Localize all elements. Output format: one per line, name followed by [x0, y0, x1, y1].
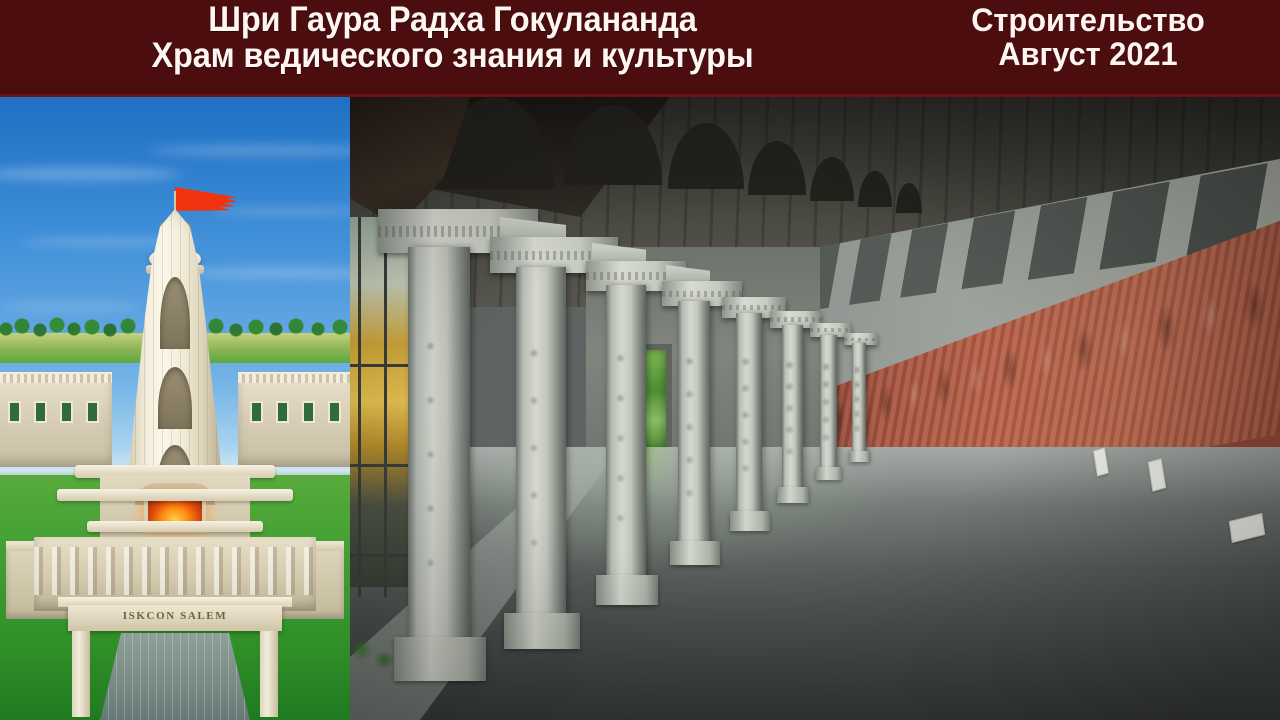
window — [60, 401, 73, 423]
parapet — [0, 374, 112, 383]
date-line-1: Строительство — [925, 4, 1251, 38]
corridor-pillar — [516, 267, 566, 643]
window — [302, 401, 315, 423]
corridor-pillar — [782, 325, 803, 497]
gate-pillar-left — [72, 631, 90, 717]
gate-pillar-right — [260, 631, 278, 717]
corridor-pillar — [736, 313, 762, 525]
corridor-pillar — [852, 343, 866, 459]
temple-shikhara-tower — [117, 209, 233, 509]
pillar-base — [777, 487, 809, 503]
pillar-base — [849, 451, 870, 462]
window — [34, 401, 47, 423]
corridor-pillar — [678, 301, 710, 563]
corridor-pillar — [606, 285, 646, 603]
iskcon-salem-label: ISKCON SALEM — [68, 610, 282, 622]
image-panels: ISKCON SALEM — [0, 97, 1280, 720]
temple-flag-icon — [175, 187, 237, 211]
pillar-base — [670, 541, 720, 565]
construction-date: Строительство Август 2021 — [918, 4, 1258, 72]
pillar-base — [394, 637, 486, 681]
corridor-pillar — [408, 247, 470, 677]
ramp-texture — [100, 633, 250, 720]
pillar-base — [504, 613, 580, 649]
pavilion-roof — [87, 521, 263, 532]
temple-wing-right — [238, 372, 350, 467]
cloud-icon — [0, 167, 180, 181]
pillar-base — [816, 467, 842, 480]
window — [276, 401, 289, 423]
plinth-colonnade — [34, 547, 316, 595]
temple-title: Шри Гаура Радха Гокулананда Храм ведичес… — [0, 2, 905, 73]
corridor-photo-image: Please do not touch தயவு செய்து தொட வேண்… — [350, 97, 1280, 720]
pillar-base — [730, 511, 770, 531]
cloud-icon — [150, 145, 350, 156]
window — [86, 401, 99, 423]
parapet — [238, 374, 350, 383]
window — [250, 401, 263, 423]
header-banner: Шри Гаура Радха Гокулананда Храм ведичес… — [0, 0, 1280, 97]
window — [8, 401, 21, 423]
title-line-2: Храм ведического знания и культуры — [32, 38, 874, 74]
pavilion-roof — [57, 489, 293, 501]
temple-render-image: ISKCON SALEM — [0, 97, 350, 720]
pillar-base — [596, 575, 658, 605]
banner-root: Шри Гаура Радха Гокулананда Храм ведичес… — [0, 0, 1280, 720]
date-line-2: Август 2021 — [925, 38, 1251, 72]
title-line-1: Шри Гаура Радха Гокулананда — [32, 2, 874, 38]
window — [328, 401, 341, 423]
temple-wing-left — [0, 372, 112, 467]
corridor-pillar — [820, 335, 837, 475]
